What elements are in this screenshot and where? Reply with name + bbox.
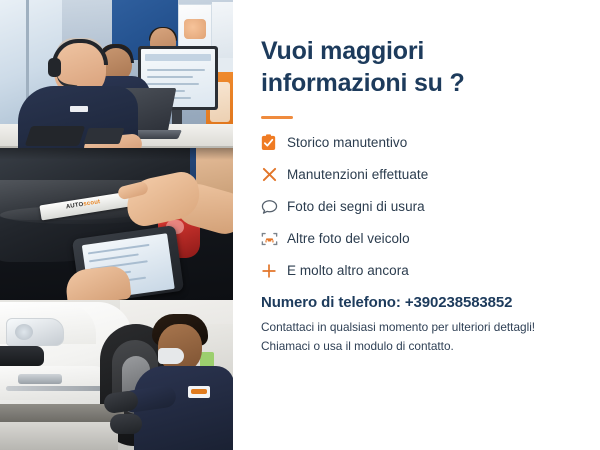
list-item-label: Storico manutentivo [287, 135, 407, 150]
clipboard-check-icon [261, 134, 287, 151]
face-mask [158, 348, 184, 364]
list-item: Foto dei segni di usura [261, 192, 521, 221]
list-item-label: E molto altro ancora [287, 263, 409, 278]
car-grille [0, 346, 44, 366]
contact-paragraph-line: Contattaci in qualsiasi momento per ulte… [261, 318, 551, 337]
list-item: Storico manutentivo [261, 128, 521, 157]
photo-column: AUTOscout [0, 0, 233, 450]
phone-number[interactable]: Numero di telefono: +390238583852 [261, 294, 512, 311]
photo-call-centre-agents-with-headsets [0, 0, 233, 148]
work-glove-lower [110, 414, 142, 434]
list-item: Altre foto del veicolo [261, 224, 521, 253]
content-panel: Vuoi maggiori informazioni su ? Saremo f… [233, 0, 600, 450]
list-item-label: Foto dei segni di usura [287, 199, 425, 214]
tools-cross-icon [261, 166, 287, 183]
list-item-label: Manutenzioni effettuate [287, 167, 428, 182]
car-scan-frame-icon [261, 231, 287, 247]
photo-inspector-measuring-dark-car-with-tablet: AUTOscout [0, 148, 233, 300]
contact-paragraph-line: Chiamaci o usa il modulo di contatto. [261, 337, 551, 356]
inspector-hand-lower [64, 265, 131, 300]
promo-card: AUTOscout [0, 0, 600, 450]
list-item: E molto altro ancora [261, 256, 521, 285]
speech-bubble-icon [261, 199, 287, 215]
list-item: Manutenzioni effettuate [261, 160, 521, 189]
car-headlight [6, 318, 64, 346]
page-title: Vuoi maggiori informazioni su ? [261, 36, 481, 99]
plus-icon [261, 263, 287, 279]
contact-paragraph: Contattaci in qualsiasi momento per ulte… [261, 318, 551, 356]
mechanic-worker [140, 314, 233, 450]
feature-list: Storico manutentivo Manutenzioni effettu… [261, 128, 521, 288]
title-underline-divider [261, 116, 293, 119]
list-item-label: Altre foto del veicolo [287, 231, 410, 246]
photo-mechanic-inspecting-white-car-on-lift [0, 300, 233, 450]
